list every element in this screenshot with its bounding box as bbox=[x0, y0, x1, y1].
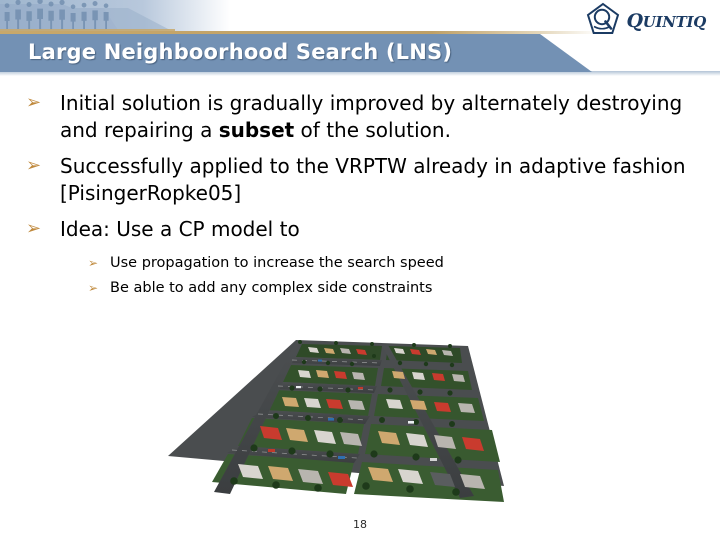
brand-logo-text-rest: UINTIQ bbox=[643, 13, 706, 31]
bullet-text: Initial solution is gradually improved b… bbox=[60, 90, 688, 143]
bullet-text: Idea: Use a CP model to bbox=[60, 216, 300, 243]
bullet-row: ➢Use propagation to increase the search … bbox=[0, 253, 720, 274]
title-band-shadow bbox=[0, 71, 720, 76]
slide-body: ➢Initial solution is gradually improved … bbox=[0, 90, 720, 303]
people-silhouette-graphic bbox=[0, 0, 230, 34]
bullet-marker-icon: ➢ bbox=[88, 278, 110, 294]
bullet-text-segment: Use propagation to increase the search s… bbox=[110, 255, 444, 271]
bullet-marker-icon: ➢ bbox=[26, 216, 60, 238]
bullet-marker-icon: ➢ bbox=[26, 90, 60, 112]
bullet-row: ➢Successfully applied to the VRPTW alrea… bbox=[0, 153, 720, 206]
bullet-row: ➢Initial solution is gradually improved … bbox=[0, 90, 720, 143]
bullet-text-emphasis: subset bbox=[219, 118, 295, 142]
quintiq-pentagon-q-logo-icon bbox=[586, 2, 620, 40]
bullet-text-segment: of the solution. bbox=[294, 118, 451, 142]
bullet-marker-icon: ➢ bbox=[88, 253, 110, 269]
bullet-text-segment: Successfully applied to the VRPTW alread… bbox=[60, 154, 686, 205]
bullet-row: ➢Be able to add any complex side constra… bbox=[0, 278, 720, 299]
brand-logo-text: QUINTIQ bbox=[626, 10, 706, 32]
bullet-text-segment: Be able to add any complex side constrai… bbox=[110, 280, 432, 296]
bullet-text: Successfully applied to the VRPTW alread… bbox=[60, 153, 688, 206]
brand-logo-text-lead: Q bbox=[626, 10, 642, 32]
bullet-text: Be able to add any complex side constrai… bbox=[110, 278, 432, 299]
aerial-suburban-neighborhood-render bbox=[168, 336, 504, 504]
header-gold-rule bbox=[0, 31, 600, 34]
page-title: Large Neighboorhood Search (LNS) bbox=[28, 40, 452, 64]
slide-header: Large Neighboorhood Search (LNS) QUINTIQ bbox=[0, 0, 720, 80]
bullet-text: Use propagation to increase the search s… bbox=[110, 253, 444, 274]
bullet-text-segment: Idea: Use a CP model to bbox=[60, 217, 300, 241]
page-number: 18 bbox=[0, 518, 720, 531]
bullet-marker-icon: ➢ bbox=[26, 153, 60, 175]
bullet-row: ➢Idea: Use a CP model to bbox=[0, 216, 720, 243]
brand-logo: QUINTIQ bbox=[586, 2, 706, 40]
